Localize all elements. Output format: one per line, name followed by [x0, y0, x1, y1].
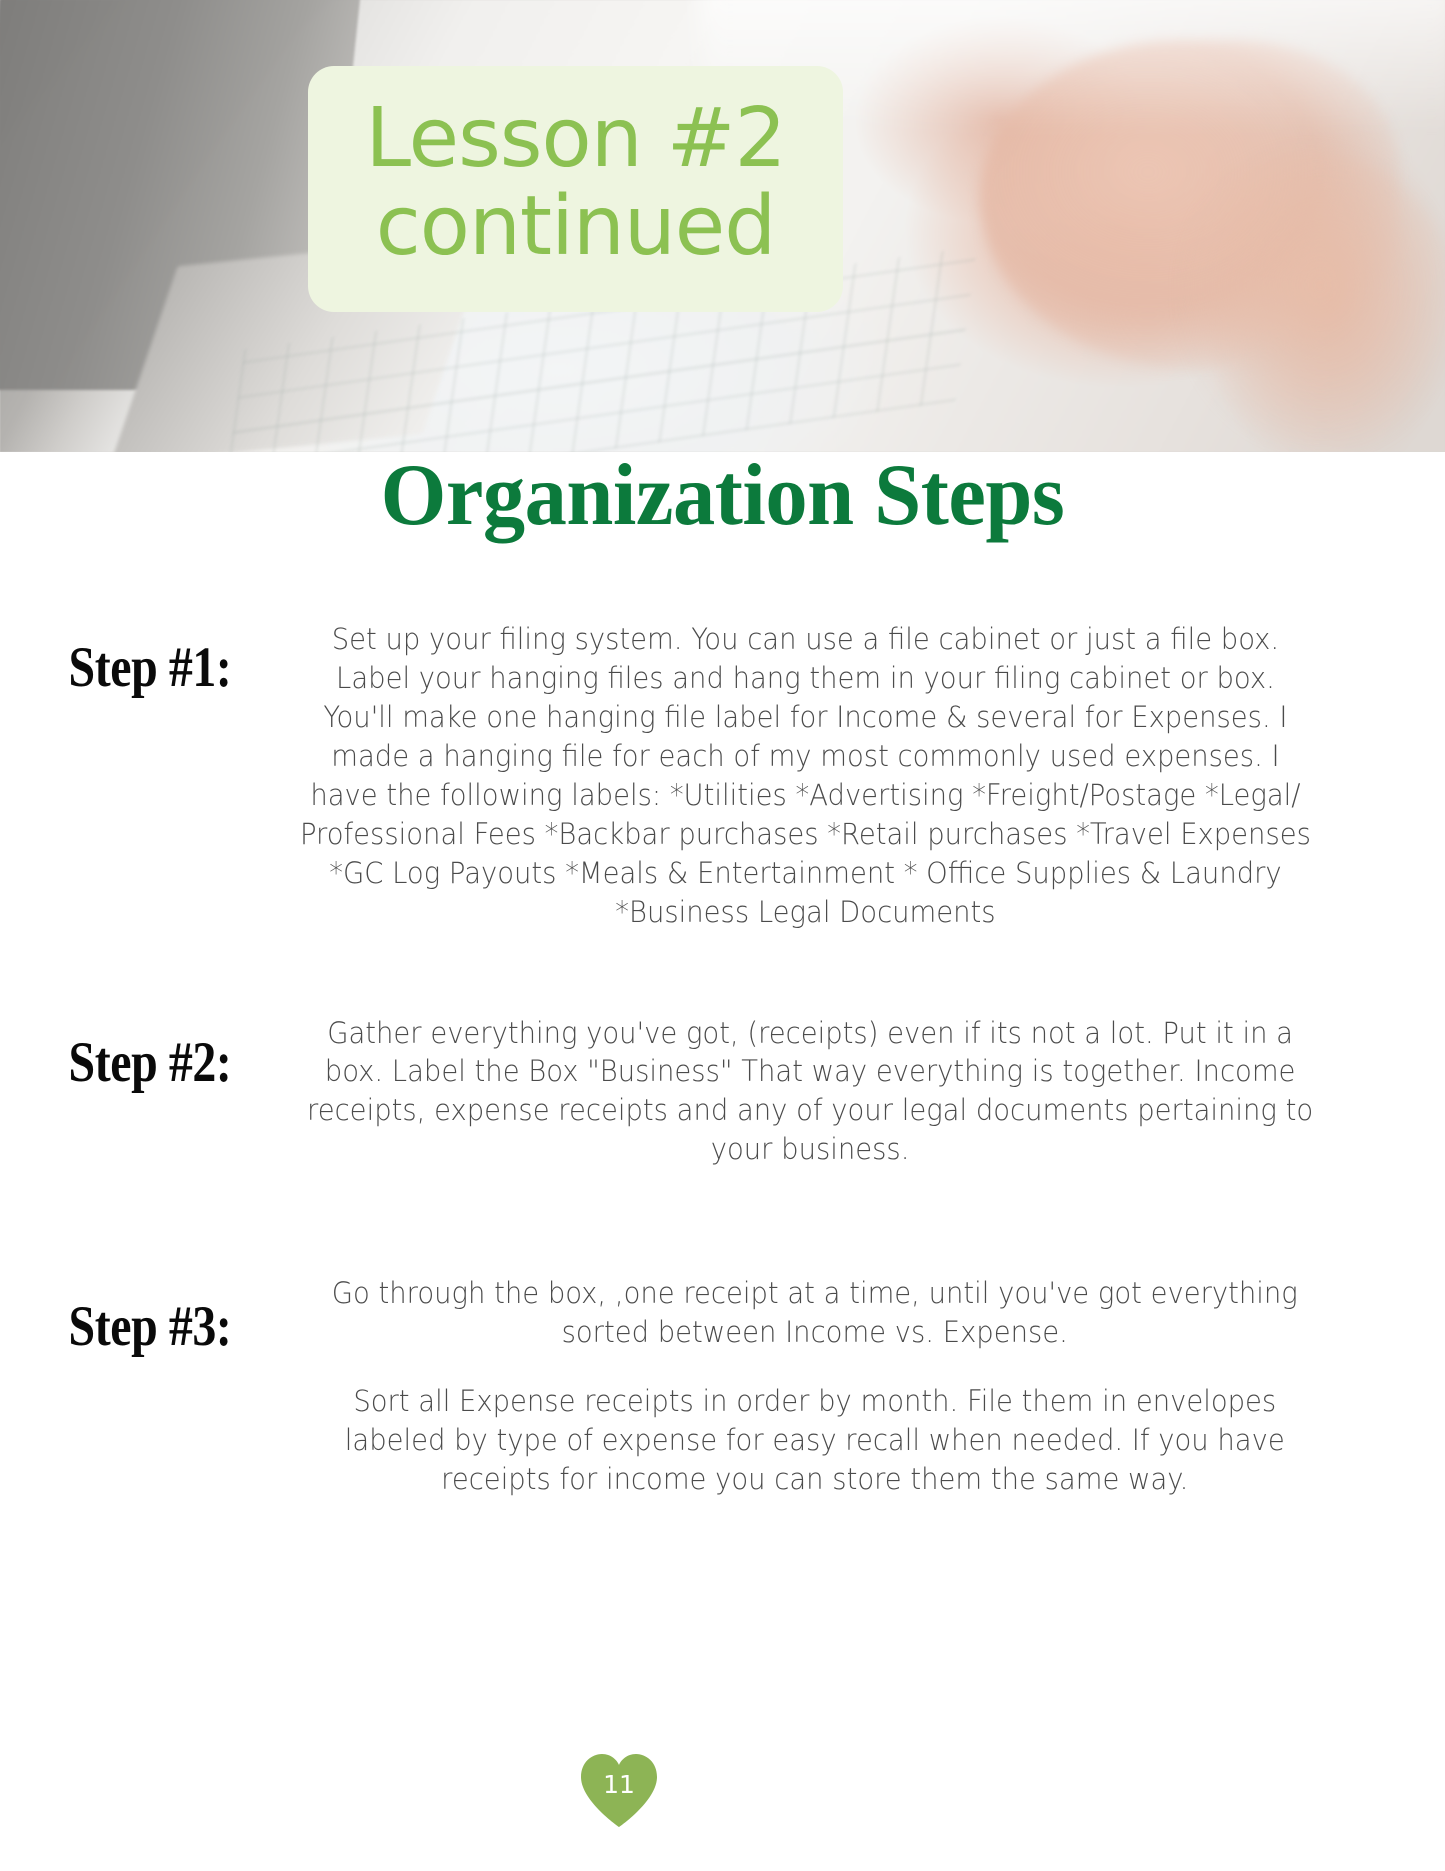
- page-number-badge: 11: [578, 1752, 660, 1830]
- page-title: Organization Steps: [29, 452, 1416, 540]
- step-3-paragraph-1: Go through the box, ,one receipt at a ti…: [300, 1274, 1330, 1352]
- step-2-body: Gather everything you've got, (receipts)…: [300, 1014, 1365, 1170]
- step-1-paragraph-1: Set up your filing system. You can use a…: [300, 620, 1311, 932]
- step-item-3: Step #3: Go through the box, ,one receip…: [0, 1274, 1445, 1499]
- step-item-2: Step #2: Gather everything you've got, (…: [0, 1014, 1445, 1170]
- step-2-label: Step #2:: [24, 1014, 276, 1091]
- step-3-label: Step #3:: [24, 1274, 276, 1355]
- step-item-1: Step #1: Set up your filing system. You …: [0, 620, 1445, 932]
- lesson-title-text: Lesson #2 continued: [365, 95, 785, 270]
- hero-photo-banner: Lesson #2 continued: [0, 0, 1445, 452]
- page-number-text: 11: [578, 1772, 660, 1797]
- step-3-paragraph-2: Sort all Expense receipts in order by mo…: [300, 1382, 1330, 1499]
- step-3-body: Go through the box, ,one receipt at a ti…: [300, 1274, 1365, 1499]
- step-2-paragraph-1: Gather everything you've got, (receipts)…: [300, 1014, 1320, 1170]
- step-1-body: Set up your filing system. You can use a…: [300, 620, 1365, 932]
- step-1-label: Step #1:: [24, 620, 276, 696]
- document-page: Lesson #2 continued Organization Steps S…: [0, 0, 1445, 1871]
- steps-list: Step #1: Set up your filing system. You …: [0, 620, 1445, 1499]
- hand-shape-right: [1180, 150, 1445, 450]
- lesson-title-card: Lesson #2 continued: [308, 66, 843, 312]
